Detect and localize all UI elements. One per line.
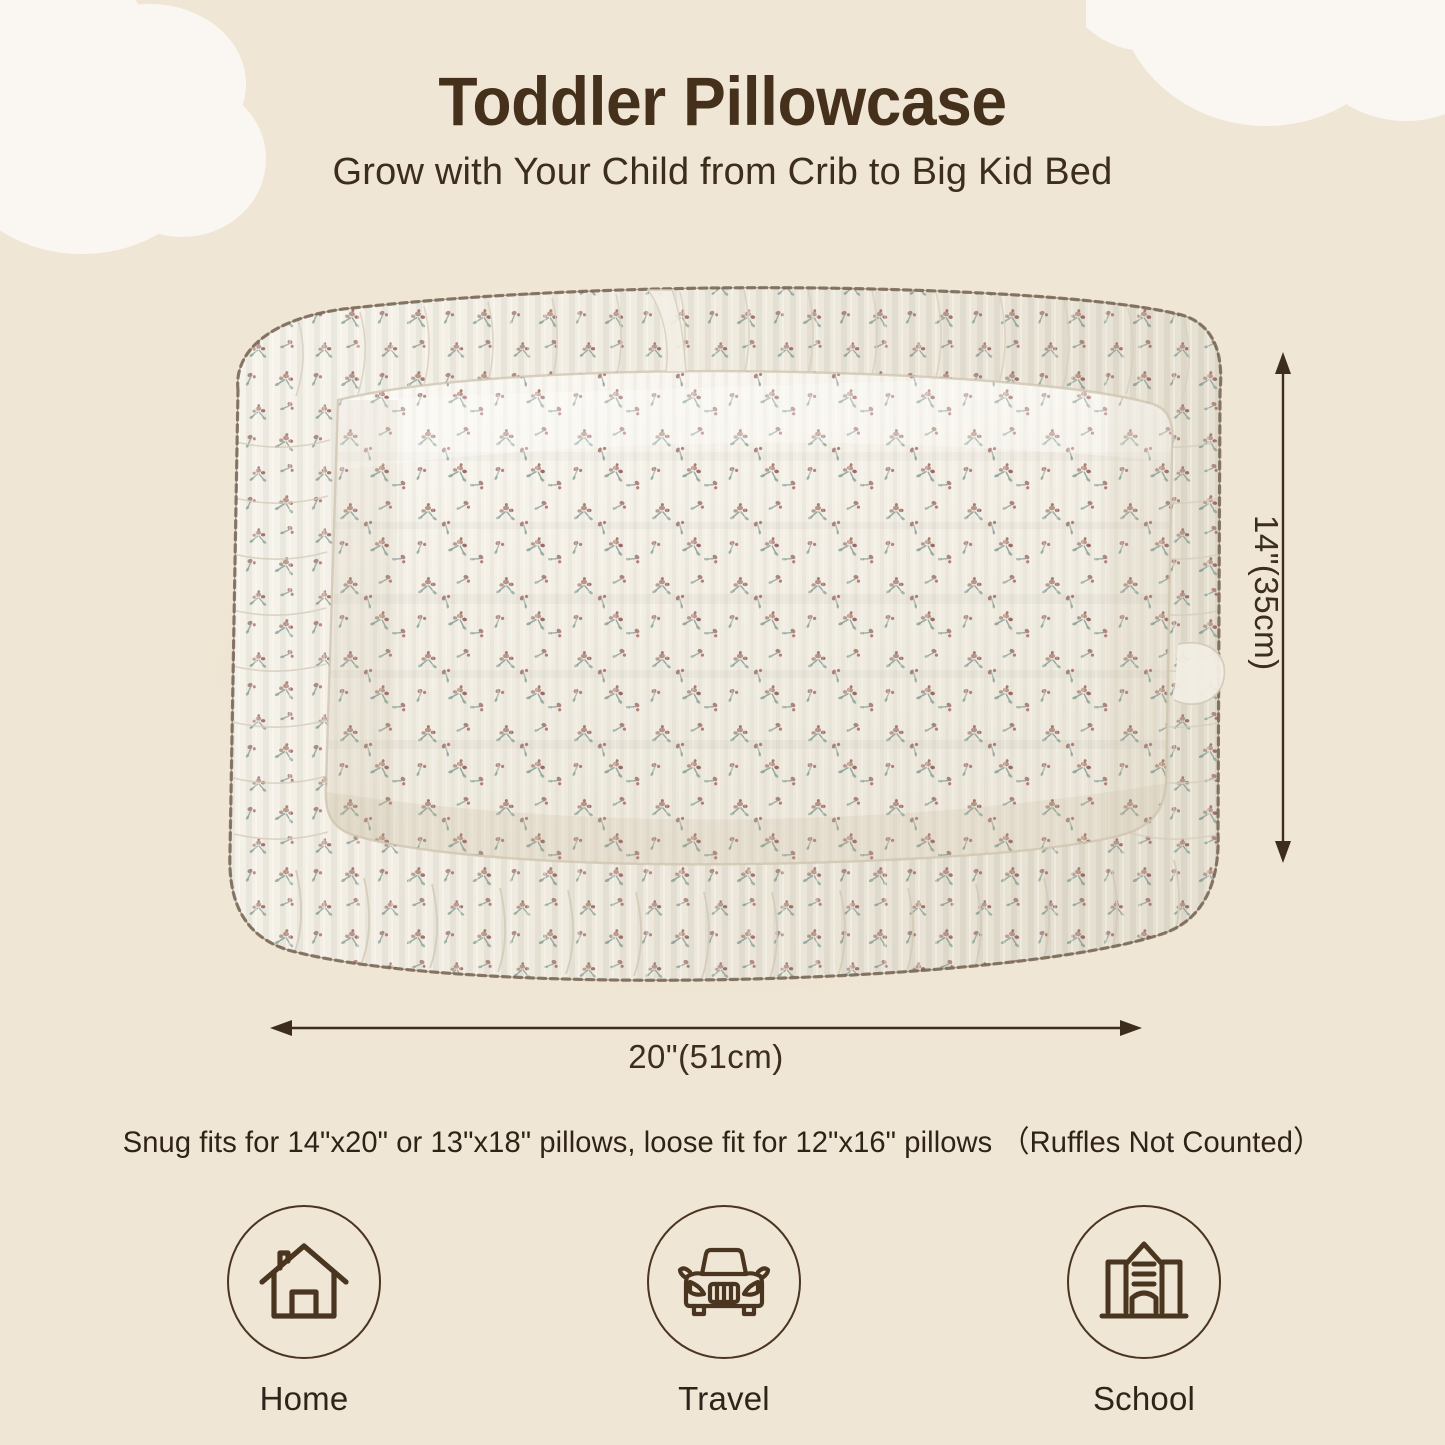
feature-label-home: Home xyxy=(260,1380,349,1418)
feature-label-school: School xyxy=(1093,1380,1195,1418)
page-title: Toddler Pillowcase xyxy=(51,62,1395,141)
car-icon xyxy=(672,1232,776,1332)
feature-item-travel: Travel xyxy=(524,1205,924,1425)
house-icon xyxy=(254,1232,354,1332)
feature-circle-school xyxy=(1067,1205,1221,1359)
feature-item-home: Home xyxy=(104,1205,504,1425)
infographic-canvas: Toddler Pillowcase Grow with Your Child … xyxy=(0,0,1445,1445)
page-subtitle: Grow with Your Child from Crib to Big Ki… xyxy=(0,151,1445,194)
dimension-label-width: 20"(51cm) xyxy=(268,1038,1144,1076)
cloud-decoration-left xyxy=(0,0,322,294)
feature-circle-home xyxy=(227,1205,381,1359)
feature-circle-travel xyxy=(647,1205,801,1359)
feature-list: Home xyxy=(104,1205,1344,1425)
product-image-pillowcase xyxy=(178,272,1238,1002)
feature-label-travel: Travel xyxy=(678,1380,770,1418)
feature-item-school: School xyxy=(944,1205,1344,1425)
dimension-label-height: 14"(35cm) xyxy=(1247,515,1285,671)
fit-note-text: Snug fits for 14"x20" or 13"x18" pillows… xyxy=(22,1117,1424,1161)
school-building-icon xyxy=(1094,1232,1194,1332)
